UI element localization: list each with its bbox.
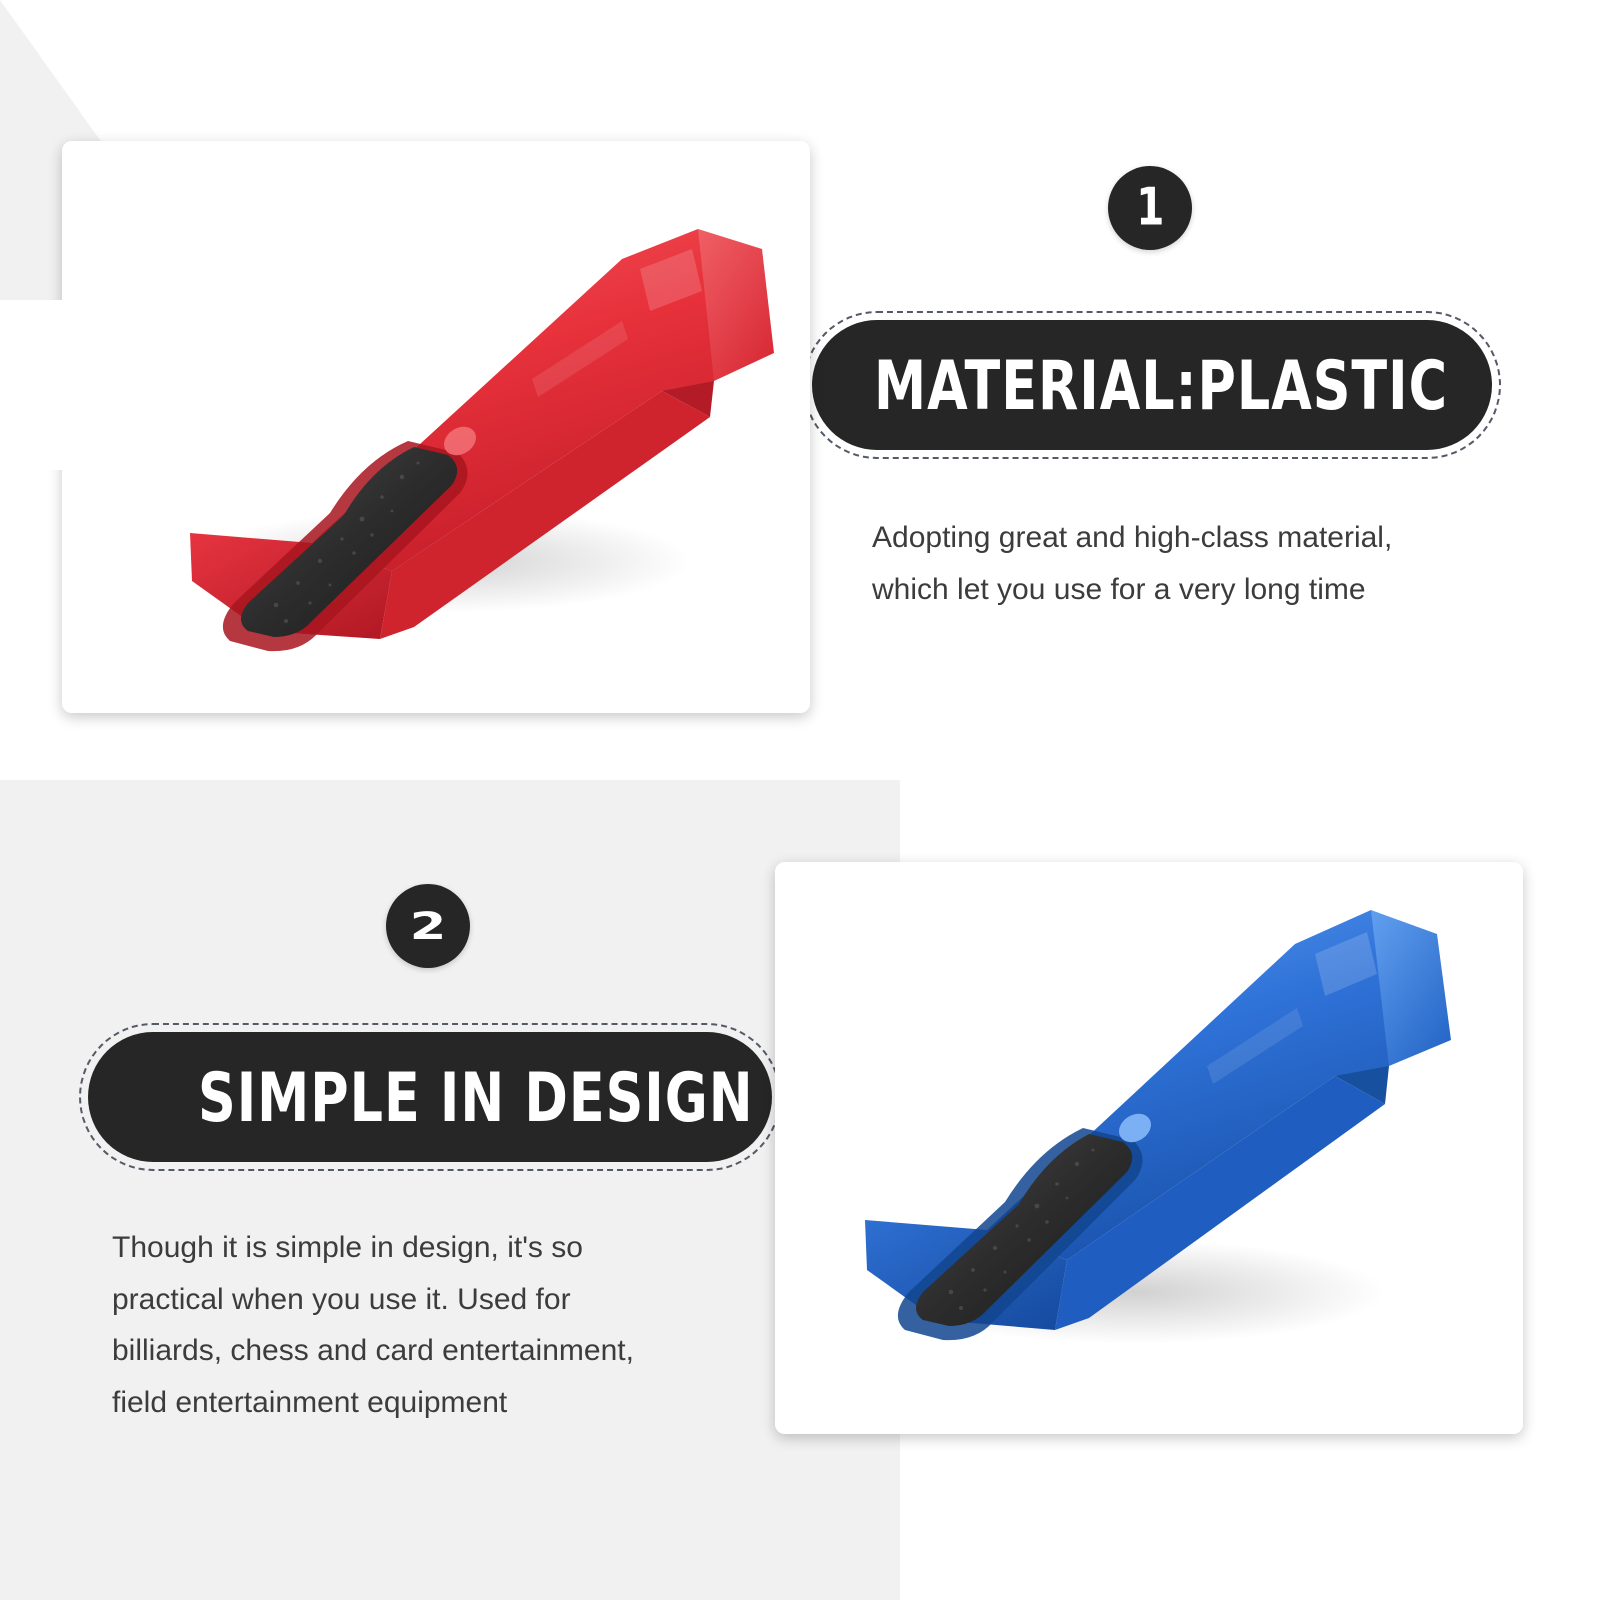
banner-fill-1: MATERIAL:PLASTIC <box>812 320 1492 450</box>
infographic-stage: MATERIAL:PLASTIC SIMPLE IN DESIGN <box>0 0 1600 1600</box>
step-number-badge-2: 2 <box>386 884 470 968</box>
banner-title-2: SIMPLE IN DESIGN <box>198 1057 754 1136</box>
step-number-badge-1: 1 <box>1108 166 1192 250</box>
blue-cue-tip-shaper-photo <box>775 862 1523 1434</box>
product-card-blue <box>775 862 1523 1434</box>
feature-banner-2: SIMPLE IN DESIGN <box>88 1032 772 1162</box>
step-number-2: 2 <box>410 907 447 945</box>
red-cue-tip-shaper-photo <box>62 141 810 713</box>
banner-fill-2: SIMPLE IN DESIGN <box>88 1032 772 1162</box>
banner-mask-left-1 <box>0 300 62 470</box>
banner-title-1: MATERIAL:PLASTIC <box>874 345 1448 424</box>
feature-description-2: Though it is simple in design, it's so p… <box>112 1222 732 1428</box>
feature-banner-1: MATERIAL:PLASTIC <box>812 320 1492 450</box>
product-card-red <box>62 141 810 713</box>
step-number-1: 1 <box>1136 182 1164 234</box>
feature-description-1: Adopting great and high-class material, … <box>872 512 1492 615</box>
